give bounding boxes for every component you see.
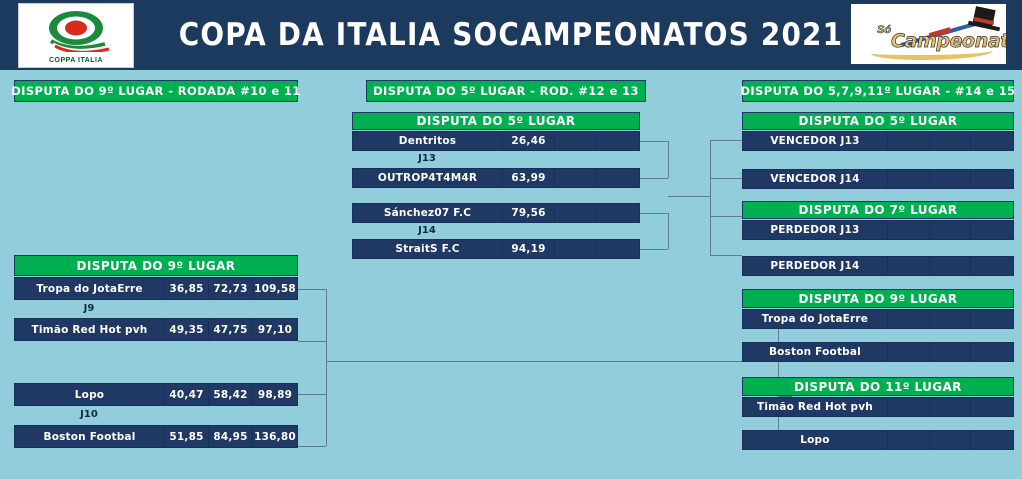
table-row[interactable]: PERDEDOR J14 xyxy=(742,256,1014,276)
logo-name: Campeonatos xyxy=(891,30,1006,52)
bracket-line xyxy=(298,289,326,290)
table-row[interactable]: Sánchez07 F.C 79,56 xyxy=(352,203,640,223)
table-row[interactable]: Lopo 40,47 58,42 98,89 xyxy=(14,383,298,406)
score-cell xyxy=(930,310,972,328)
team-name: PERDEDOR J14 xyxy=(743,257,888,275)
score-cell xyxy=(971,257,1013,275)
team-name: StraitS F.C xyxy=(353,240,503,258)
match-label: J9 xyxy=(14,303,164,314)
section-banner-right: DISPUTA DO 5,7,9,11º LUGAR - #14 e 15 xyxy=(742,80,1014,102)
bracket-line xyxy=(640,249,668,250)
mid-group-title: DISPUTA DO 5º LUGAR xyxy=(352,112,640,130)
section-banner-middle: DISPUTA DO 5º LUGAR - ROD. #12 e 13 xyxy=(366,80,646,102)
score-cell: 72,73 xyxy=(209,278,253,299)
bracket-line xyxy=(326,361,778,362)
score-cell: 40,47 xyxy=(165,384,209,405)
team-name: Boston Footbal xyxy=(15,426,165,447)
coppa-italia-caption: COPPA ITALIA xyxy=(19,57,133,64)
score-cell xyxy=(930,431,972,449)
logo-prefix: Só xyxy=(877,24,891,36)
bracket-line xyxy=(640,213,668,214)
score-cell: 97,10 xyxy=(253,319,297,340)
table-row[interactable]: Timão Red Hot pvh xyxy=(742,397,1014,417)
bracket-line xyxy=(298,341,326,342)
bracket-line xyxy=(640,141,668,142)
bracket-line xyxy=(326,289,327,341)
table-row[interactable]: Tropa do JotaErre 36,85 72,73 109,58 xyxy=(14,277,298,300)
table-row[interactable]: StraitS F.C 94,19 xyxy=(352,239,640,259)
team-name: Lopo xyxy=(15,384,165,405)
score-cell xyxy=(888,343,930,361)
score-cell xyxy=(971,343,1013,361)
team-name: Dentritos xyxy=(353,132,503,150)
team-name: Sánchez07 F.C xyxy=(353,204,503,222)
bracket-line xyxy=(668,196,710,197)
score-cell: 84,95 xyxy=(209,426,253,447)
bracket-line xyxy=(298,446,326,447)
match-label: J13 xyxy=(352,153,502,164)
score-cell xyxy=(597,204,639,222)
team-name: Timão Red Hot pvh xyxy=(743,398,888,416)
score-cell xyxy=(597,240,639,258)
score-cell xyxy=(555,240,597,258)
table-row[interactable]: Tropa do JotaErre xyxy=(742,309,1014,329)
score-cell: 109,58 xyxy=(253,278,297,299)
score-cell xyxy=(555,169,597,187)
score-cell xyxy=(555,204,597,222)
section-banner-left: DISPUTA DO 9º LUGAR - RODADA #10 e 11 xyxy=(14,80,298,102)
right-group-title: DISPUTA DO 9º LUGAR xyxy=(742,289,1014,308)
score-cell: 26,46 xyxy=(503,132,555,150)
match-label: J10 xyxy=(14,409,164,420)
bracket-line xyxy=(326,394,327,446)
team-name: Tropa do JotaErre xyxy=(15,278,165,299)
score-cell xyxy=(888,170,930,188)
team-name: Timão Red Hot pvh xyxy=(15,319,165,340)
right-group-title: DISPUTA DO 11º LUGAR xyxy=(742,377,1014,396)
score-cell xyxy=(597,132,639,150)
score-cell xyxy=(888,257,930,275)
score-cell xyxy=(888,431,930,449)
table-row[interactable]: Lopo xyxy=(742,430,1014,450)
score-cell xyxy=(888,132,930,150)
bracket-line xyxy=(668,141,669,178)
score-cell: 51,85 xyxy=(165,426,209,447)
table-row[interactable]: Timão Red Hot pvh 49,35 47,75 97,10 xyxy=(14,318,298,341)
score-cell xyxy=(971,398,1013,416)
team-name: VENCEDOR J14 xyxy=(743,170,888,188)
table-row[interactable]: VENCEDOR J14 xyxy=(742,169,1014,189)
score-cell: 49,35 xyxy=(165,319,209,340)
score-cell xyxy=(930,343,972,361)
score-cell: 58,42 xyxy=(209,384,253,405)
bracket-line xyxy=(668,213,669,249)
score-cell xyxy=(971,310,1013,328)
team-name: Tropa do JotaErre xyxy=(743,310,888,328)
table-row[interactable]: Dentritos 26,46 xyxy=(352,131,640,151)
left-group-title: DISPUTA DO 9º LUGAR xyxy=(14,255,298,276)
bracket-line xyxy=(710,140,742,141)
score-cell xyxy=(888,398,930,416)
bracket-line xyxy=(710,178,742,179)
table-row[interactable]: Boston Footbal xyxy=(742,342,1014,362)
team-name: OUTROP4T4M4R xyxy=(353,169,503,187)
bracket-line xyxy=(710,255,742,256)
score-cell xyxy=(930,257,972,275)
score-cell: 36,85 xyxy=(165,278,209,299)
bracket-line xyxy=(710,216,742,217)
table-row[interactable]: VENCEDOR J13 xyxy=(742,131,1014,151)
table-row[interactable]: OUTROP4T4M4R 63,99 xyxy=(352,168,640,188)
coppa-italia-logo: COPPA ITALIA xyxy=(18,3,134,68)
score-cell xyxy=(971,132,1013,150)
score-cell xyxy=(888,310,930,328)
right-group-title: DISPUTA DO 7º LUGAR xyxy=(742,201,1014,219)
bracket-line xyxy=(298,394,326,395)
score-cell: 136,80 xyxy=(253,426,297,447)
score-cell xyxy=(888,221,930,239)
score-cell xyxy=(555,132,597,150)
so-campeonatos-logo: Só Campeonatos xyxy=(851,4,1006,64)
score-cell: 94,19 xyxy=(503,240,555,258)
bracket-line xyxy=(710,140,711,255)
score-cell xyxy=(971,170,1013,188)
table-row[interactable]: PERDEDOR J13 xyxy=(742,220,1014,240)
team-name: VENCEDOR J13 xyxy=(743,132,888,150)
score-cell: 79,56 xyxy=(503,204,555,222)
score-cell xyxy=(971,431,1013,449)
score-cell: 98,89 xyxy=(253,384,297,405)
table-row[interactable]: Boston Footbal 51,85 84,95 136,80 xyxy=(14,425,298,448)
bracket-line xyxy=(326,341,327,394)
team-name: Boston Footbal xyxy=(743,343,888,361)
match-label: J14 xyxy=(352,225,502,236)
team-name: Lopo xyxy=(743,431,888,449)
score-cell xyxy=(930,132,972,150)
score-cell xyxy=(930,398,972,416)
right-group-title: DISPUTA DO 5º LUGAR xyxy=(742,112,1014,130)
score-cell: 63,99 xyxy=(503,169,555,187)
coppa-italia-icon xyxy=(39,8,113,52)
bracket-line xyxy=(640,178,668,179)
score-cell xyxy=(930,221,972,239)
score-cell xyxy=(597,169,639,187)
top-banner: COPA DA ITALIA SOCAMPEONATOS 2021 COPPA … xyxy=(0,0,1022,70)
score-cell xyxy=(971,221,1013,239)
score-cell xyxy=(930,170,972,188)
score-cell: 47,75 xyxy=(209,319,253,340)
team-name: PERDEDOR J13 xyxy=(743,221,888,239)
